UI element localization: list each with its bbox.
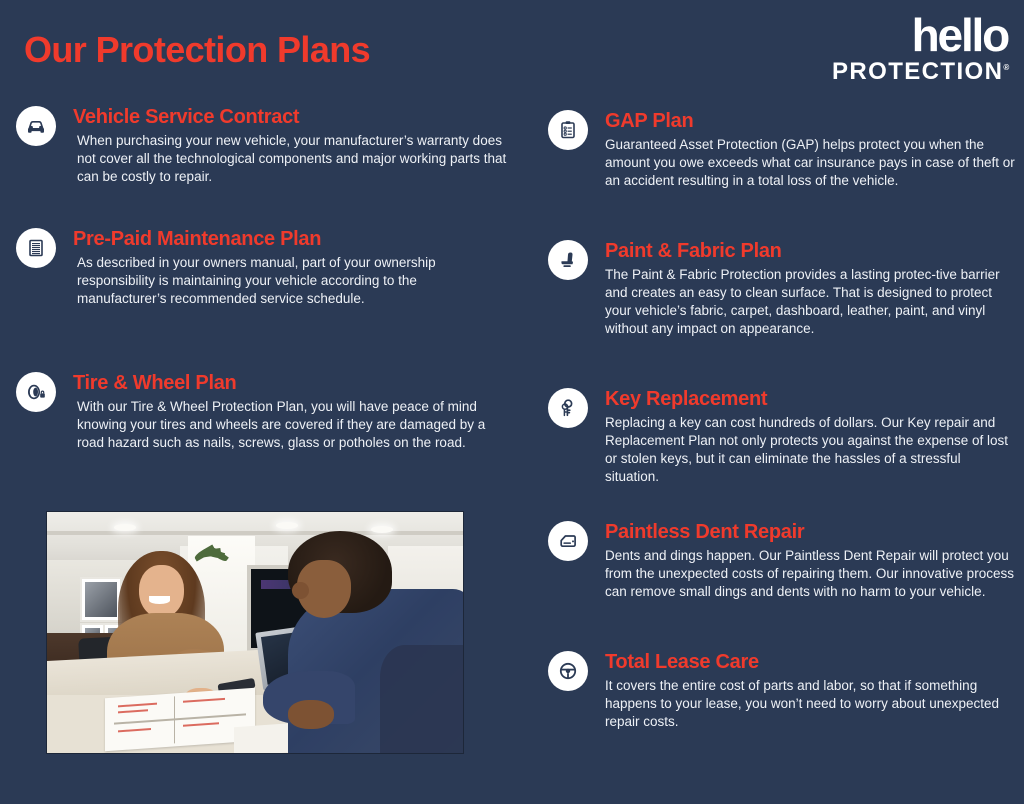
plan-item-tire-and-wheel[interactable]: Tire & Wheel Plan With our Tire & Wheel …	[16, 372, 491, 452]
page-title: Our Protection Plans	[24, 32, 370, 68]
photo-paper-text-line	[183, 698, 225, 703]
plan-title: Paintless Dent Repair	[605, 521, 1016, 543]
plan-item-vehicle-service-contract[interactable]: Vehicle Service Contract When purchasing…	[16, 106, 516, 186]
plan-title: GAP Plan	[605, 110, 1016, 132]
plan-item-total-lease-care[interactable]: Total Lease Care It covers the entire co…	[548, 651, 1016, 731]
plan-item-key-replacement[interactable]: Key Replacement Replacing a key can cost…	[548, 388, 1016, 486]
logo-wordmark-hello: hello	[832, 14, 1008, 58]
car-seat-icon	[548, 240, 588, 280]
plan-description: When purchasing your new vehicle, your m…	[77, 132, 516, 186]
brand-logo: hello PROTECTION®	[832, 14, 1008, 84]
keys-icon	[548, 388, 588, 428]
protection-plans-page: Our Protection Plans hello PROTECTION® V…	[0, 0, 1024, 804]
photo-paper-text-line	[119, 709, 149, 713]
photo-person-left-smile	[149, 596, 170, 603]
photo-person-right-ear	[292, 582, 309, 599]
photo-downlight	[276, 522, 298, 529]
plan-title: Total Lease Care	[605, 651, 1016, 673]
plan-title: Pre-Paid Maintenance Plan	[73, 228, 486, 250]
clipboard-checklist-icon	[548, 110, 588, 150]
plan-description: Dents and dings happen. Our Paintless De…	[605, 547, 1016, 601]
manual-document-icon	[16, 228, 56, 268]
photo-ceiling-beam	[47, 531, 463, 535]
photo-wall-art	[80, 577, 121, 622]
photo-content	[47, 512, 463, 753]
plan-description: Replacing a key can cost hundreds of dol…	[605, 414, 1016, 486]
registered-mark-icon: ®	[1003, 63, 1009, 72]
photo-person-right-hand	[288, 700, 334, 729]
plan-description: It covers the entire cost of parts and l…	[605, 677, 1016, 731]
tire-lock-icon	[16, 372, 56, 412]
logo-protection-text: PROTECTION	[832, 58, 1003, 85]
plan-item-pre-paid-maintenance[interactable]: Pre-Paid Maintenance Plan As described i…	[16, 228, 486, 308]
plan-item-paint-and-fabric[interactable]: Paint & Fabric Plan The Paint & Fabric P…	[548, 240, 1016, 338]
photo-paper-divider	[114, 714, 246, 725]
photo-paper-text-line	[183, 722, 219, 727]
plan-title: Key Replacement	[605, 388, 1016, 410]
plan-title: Tire & Wheel Plan	[73, 372, 491, 394]
plan-description: Guaranteed Asset Protection (GAP) helps …	[605, 136, 1016, 190]
logo-wordmark-protection: PROTECTION®	[832, 60, 1008, 84]
steering-wheel-icon	[548, 651, 588, 691]
plan-description: With our Tire & Wheel Protection Plan, y…	[77, 398, 491, 452]
photo-plant	[193, 541, 239, 571]
dealership-photo	[46, 511, 464, 754]
photo-person-left-face	[139, 565, 185, 618]
plan-item-paintless-dent-repair[interactable]: Paintless Dent Repair Dents and dings ha…	[548, 521, 1016, 601]
photo-person-right-body-shadow	[380, 645, 463, 753]
plan-title: Vehicle Service Contract	[73, 106, 516, 128]
plan-description: The Paint & Fabric Protection provides a…	[605, 266, 1016, 338]
photo-paper-document	[105, 688, 255, 751]
photo-paper-text-line	[119, 703, 158, 708]
plan-description: As described in your owners manual, part…	[77, 254, 486, 308]
plan-title: Paint & Fabric Plan	[605, 240, 1016, 262]
photo-downlight	[114, 524, 136, 531]
photo-wall-art-image	[85, 582, 116, 617]
plan-item-gap-plan[interactable]: GAP Plan Guaranteed Asset Protection (GA…	[548, 110, 1016, 190]
photo-paper-text-line	[119, 728, 152, 732]
car-door-icon	[548, 521, 588, 561]
car-icon	[16, 106, 56, 146]
